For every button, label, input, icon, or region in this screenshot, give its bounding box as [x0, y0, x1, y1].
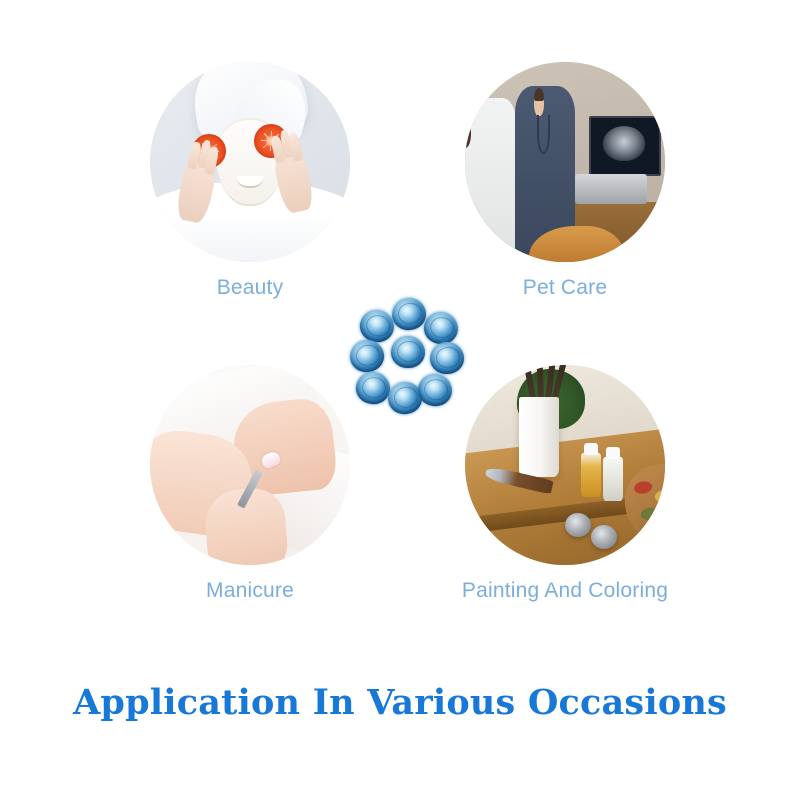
occasion-label-beauty: Beauty: [140, 276, 360, 300]
paint-blob-red: [633, 480, 653, 495]
veterinarian-hair: [534, 88, 545, 101]
metal-dipper-cup: [591, 525, 617, 549]
assistant-head: [465, 117, 471, 148]
pet-care-photo: [465, 62, 665, 262]
stethoscope-icon: [537, 115, 550, 154]
finger-cot: [429, 341, 465, 375]
occasion-card-pet-care: Pet Care: [445, 62, 685, 300]
ultrasound-monitor: [589, 116, 661, 176]
product-infographic: Beauty Pet Care: [0, 0, 800, 800]
occasion-label-manicure: Manicure: [140, 579, 360, 603]
occasion-label-pet-care: Pet Care: [445, 276, 685, 300]
paint-blob-yellow: [654, 488, 665, 503]
page-headline: Application In Various Occasions: [0, 682, 800, 723]
occasion-label-painting-coloring: Painting And Coloring: [435, 579, 695, 603]
beauty-photo: [150, 62, 350, 262]
occasion-card-manicure: Manicure: [140, 365, 360, 603]
finger-cot: [347, 337, 386, 374]
manicure-photo: [150, 365, 350, 565]
ultrasound-console: [575, 174, 647, 204]
finger-cot: [391, 336, 425, 368]
occasion-card-beauty: Beauty: [140, 62, 360, 300]
oil-medium-bottle-clear: [603, 457, 623, 501]
brush-holder-cup: [519, 397, 559, 477]
finger-cot: [354, 370, 391, 405]
finger-cots-cluster: [352, 296, 464, 408]
finger-cot: [416, 372, 454, 408]
occasion-card-painting-coloring: Painting And Coloring: [435, 365, 695, 603]
bottle-cap: [606, 447, 620, 458]
finger-cot: [390, 296, 427, 331]
finger-cot: [421, 309, 460, 346]
veterinarian-assistant: [465, 98, 517, 254]
painting-coloring-photo: [465, 365, 665, 565]
paint-blob-green: [639, 506, 659, 521]
oil-medium-bottle-amber: [581, 453, 601, 497]
bottle-cap: [584, 443, 598, 454]
metal-dipper-cup: [565, 513, 591, 537]
